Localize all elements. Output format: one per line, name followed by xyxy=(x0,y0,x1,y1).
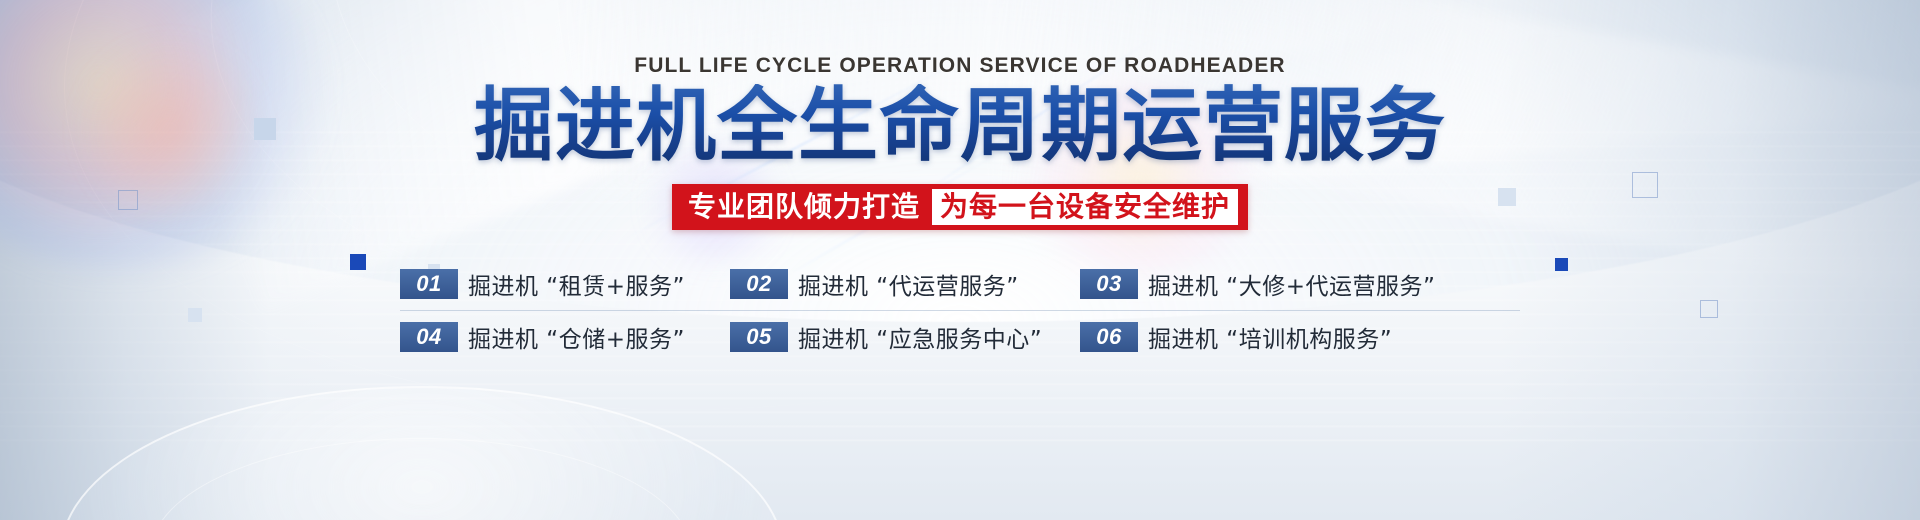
service-item-01[interactable]: 01 掘进机 “租赁+服务” xyxy=(400,267,730,301)
tagline-primary: 专业团队倾力打造 xyxy=(684,189,932,225)
banner-content: FULL LIFE CYCLE OPERATION SERVICE OF ROA… xyxy=(0,0,1920,520)
banner-headline: 掘进机全生命周期运营服务 xyxy=(474,84,1446,168)
service-row-top: 01 掘进机 “租赁+服务” 02 掘进机 “代运营服务” 03 掘进机 “大修… xyxy=(400,258,1520,311)
service-label: 掘进机 “培训机构服务” xyxy=(1148,320,1392,354)
banner-subtitle-english: FULL LIFE CYCLE OPERATION SERVICE OF ROA… xyxy=(634,54,1285,78)
service-number-badge: 05 xyxy=(730,322,788,352)
service-item-02[interactable]: 02 掘进机 “代运营服务” xyxy=(730,267,1080,301)
service-label: 掘进机 “大修+代运营服务” xyxy=(1148,267,1435,301)
tagline-bar: 专业团队倾力打造 为每一台设备安全维护 xyxy=(672,184,1248,230)
service-label: 掘进机 “租赁+服务” xyxy=(468,267,685,301)
service-label: 掘进机 “应急服务中心” xyxy=(798,320,1042,354)
service-item-03[interactable]: 03 掘进机 “大修+代运营服务” xyxy=(1080,267,1435,301)
service-row-bottom: 04 掘进机 “仓储+服务” 05 掘进机 “应急服务中心” 06 掘进机 “培… xyxy=(400,311,1520,363)
service-item-04[interactable]: 04 掘进机 “仓储+服务” xyxy=(400,320,730,354)
tagline-secondary: 为每一台设备安全维护 xyxy=(932,189,1238,225)
service-item-06[interactable]: 06 掘进机 “培训机构服务” xyxy=(1080,320,1392,354)
service-number-badge: 04 xyxy=(400,322,458,352)
service-label: 掘进机 “仓储+服务” xyxy=(468,320,685,354)
service-label: 掘进机 “代运营服务” xyxy=(798,267,1019,301)
service-number-badge: 06 xyxy=(1080,322,1138,352)
service-item-05[interactable]: 05 掘进机 “应急服务中心” xyxy=(730,320,1080,354)
service-number-badge: 03 xyxy=(1080,269,1138,299)
service-number-badge: 01 xyxy=(400,269,458,299)
hero-banner: FULL LIFE CYCLE OPERATION SERVICE OF ROA… xyxy=(0,0,1920,520)
service-list: 01 掘进机 “租赁+服务” 02 掘进机 “代运营服务” 03 掘进机 “大修… xyxy=(400,258,1520,363)
service-number-badge: 02 xyxy=(730,269,788,299)
